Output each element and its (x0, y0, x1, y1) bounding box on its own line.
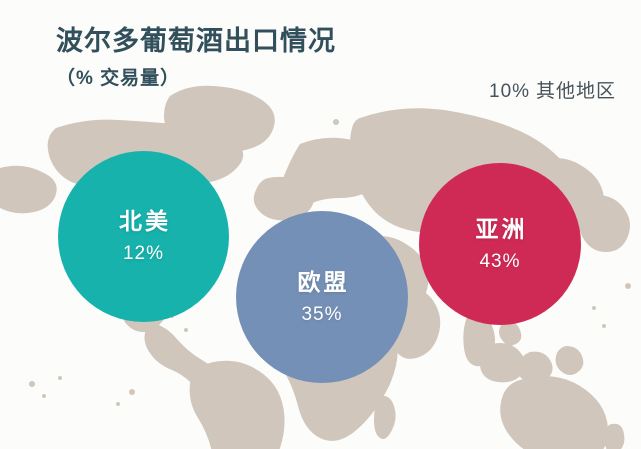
bubble-eu-value: 35% (301, 305, 342, 324)
other-regions-percent: 10% (489, 81, 530, 102)
bubble-asia[interactable]: 亚洲 43% (419, 163, 581, 325)
page-title: 波尔多葡萄酒出口情况 (56, 26, 336, 58)
bubble-asia-value: 43% (479, 252, 520, 271)
bubble-asia-label: 亚洲 (473, 218, 528, 241)
bubble-eu-label: 欧盟 (295, 271, 350, 294)
other-regions-label: 其他地区 (536, 81, 616, 102)
page-subtitle: （% 交易量） (56, 63, 336, 90)
bubble-north-america-value: 12% (123, 244, 164, 263)
other-regions-annotation: 10%其他地区 (489, 76, 616, 103)
bubble-north-america[interactable]: 北美 12% (58, 151, 229, 322)
bubble-eu[interactable]: 欧盟 35% (236, 211, 408, 383)
infographic-canvas: 波尔多葡萄酒出口情况 （% 交易量） 10%其他地区 北美 12% 亚洲 43%… (0, 0, 641, 449)
header-block: 波尔多葡萄酒出口情况 （% 交易量） (56, 26, 336, 90)
bubble-north-america-label: 北美 (116, 210, 171, 233)
